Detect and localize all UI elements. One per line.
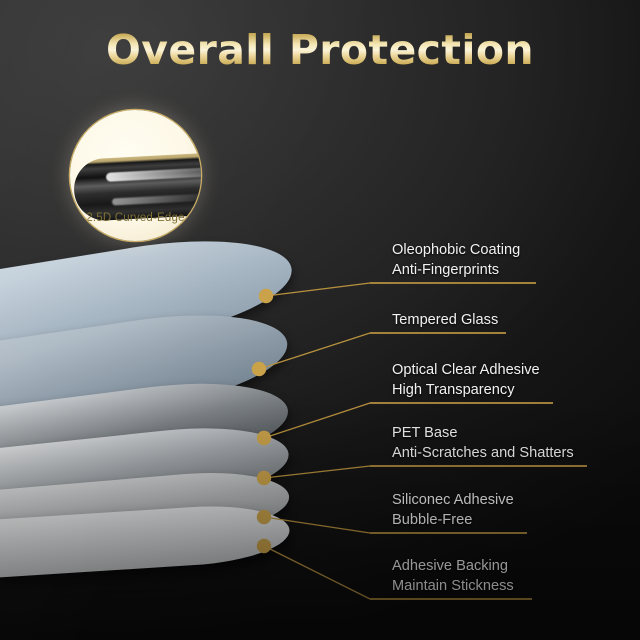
curved-edge-inset-circle: 2.5D Curved-Edge bbox=[70, 110, 201, 241]
callout-label-adhesive-backing-line2: Maintain Stickness bbox=[392, 577, 514, 597]
callout-dot-tempered-glass bbox=[252, 362, 266, 376]
callout-leader-line-pet-base bbox=[264, 466, 370, 478]
callout-label-optical-clear-adhesive: Optical Clear Adhesive High Transparency bbox=[392, 361, 540, 400]
callout-label-siliconec-adhesive: Siliconec Adhesive Bubble-Free bbox=[392, 491, 514, 530]
callout-lines-group bbox=[0, 0, 640, 640]
callout-dot-pet-base bbox=[257, 471, 271, 485]
callout-label-oleophobic-line2: Anti-Fingerprints bbox=[392, 261, 520, 281]
callout-label-adhesive-backing: Adhesive Backing Maintain Stickness bbox=[392, 557, 514, 596]
callout-label-siliconec-adhesive-line1: Siliconec Adhesive bbox=[392, 491, 514, 511]
callout-label-pet-base-line2: Anti-Scratches and Shatters bbox=[392, 444, 574, 464]
callout-label-pet-base-line1: PET Base bbox=[392, 424, 574, 444]
callout-label-oleophobic: Oleophobic Coating Anti-Fingerprints bbox=[392, 241, 520, 280]
callout-dot-optical-clear-adhesive bbox=[257, 431, 271, 445]
callout-label-tempered-glass: Tempered Glass bbox=[392, 311, 498, 331]
callout-leader-line-tempered-glass bbox=[259, 333, 370, 369]
callout-dot-siliconec-adhesive bbox=[257, 510, 271, 524]
page-title: Overall Protection bbox=[0, 26, 640, 74]
overall-protection-infographic: Overall Protection 2.5D Curved-Edge Oleo… bbox=[0, 0, 640, 640]
callout-dot-adhesive-backing bbox=[257, 539, 271, 553]
callout-label-pet-base: PET Base Anti-Scratches and Shatters bbox=[392, 424, 574, 463]
callout-leader-line-oleophobic bbox=[266, 283, 370, 296]
callout-label-siliconec-adhesive-line2: Bubble-Free bbox=[392, 511, 514, 531]
callout-leader-line-adhesive-backing bbox=[264, 546, 370, 599]
callout-leader-line-siliconec-adhesive bbox=[264, 517, 370, 533]
callout-label-tempered-glass-line1: Tempered Glass bbox=[392, 311, 498, 331]
callout-label-adhesive-backing-line1: Adhesive Backing bbox=[392, 557, 514, 577]
callout-leader-line-optical-clear-adhesive bbox=[264, 403, 370, 438]
callout-label-optical-clear-adhesive-line2: High Transparency bbox=[392, 381, 540, 401]
callout-dot-oleophobic bbox=[259, 289, 273, 303]
callout-label-oleophobic-line1: Oleophobic Coating bbox=[392, 241, 520, 261]
inset-caption: 2.5D Curved-Edge bbox=[70, 212, 201, 224]
callout-label-optical-clear-adhesive-line1: Optical Clear Adhesive bbox=[392, 361, 540, 381]
